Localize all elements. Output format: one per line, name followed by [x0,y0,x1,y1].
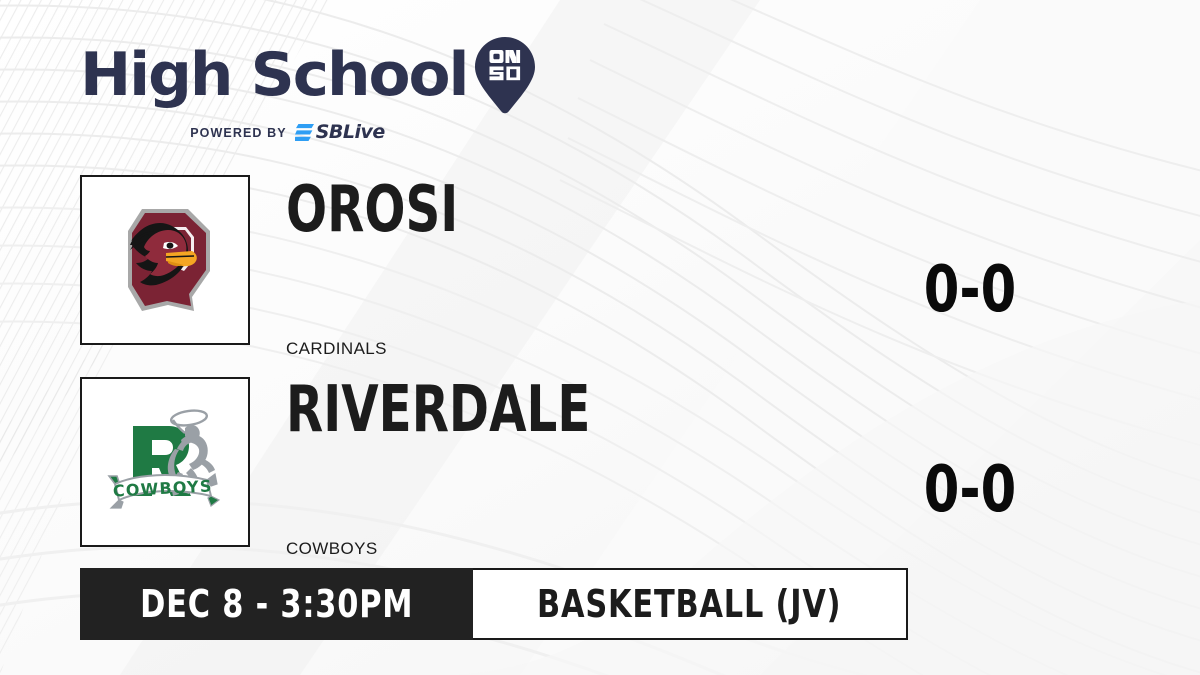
brand-logo: High School [80,36,536,142]
powered-by-label: POWERED BY [190,126,286,140]
sblive-logo: SBLive [295,123,385,142]
onsi-pin-icon [474,36,536,114]
powered-by-row: POWERED BY SBLive [80,123,495,142]
page-title: High School [80,45,467,105]
riverdale-cowboys-logo-icon: COWBOYS [103,400,227,524]
team-logo-box-riverdale: COWBOYS [80,377,250,547]
team-name-orosi: OROSI [286,177,458,241]
game-datetime-label: DEC 8 - 3:30PM [140,585,413,623]
svg-text:COWBOYS: COWBOYS [112,476,213,500]
team-mascot-cowboys: COWBOYS [286,540,378,557]
orosi-cardinals-logo-icon [106,201,224,319]
brand-logo-row: High School [80,36,536,114]
sblive-wordmark: SBLive [316,123,385,142]
game-sport-label: BASKETBALL (JV) [538,585,842,623]
scoreboard-graphic: High School [0,0,1200,675]
team-name-riverdale: RIVERDALE [286,377,590,441]
team-mascot-cardinals: CARDINALS [286,340,387,357]
sblive-s-mark-icon [295,124,314,141]
team-logo-box-orosi [80,175,250,345]
game-sport-block: BASKETBALL (JV) [473,568,907,640]
game-info-bar: DEC 8 - 3:30PM BASKETBALL (JV) [80,568,908,640]
team-score-riverdale: 0-0 [898,458,1042,522]
team-score-orosi: 0-0 [898,258,1042,322]
game-datetime-block: DEC 8 - 3:30PM [80,568,473,640]
